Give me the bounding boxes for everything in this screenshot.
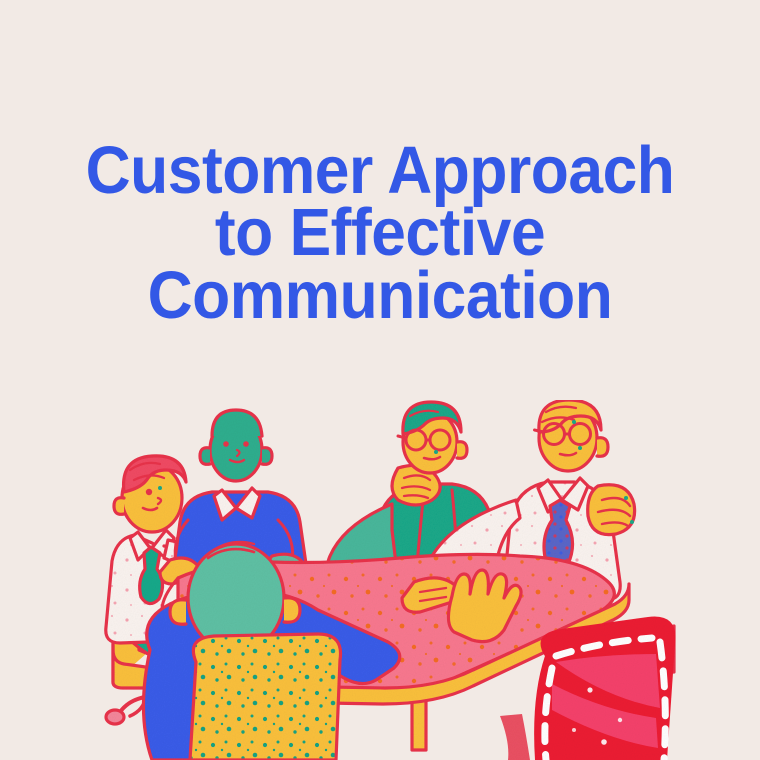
chair-leg-behind [500,714,530,760]
title-line-3: Communication [27,265,734,327]
red-chair [535,618,674,760]
business-meeting-illustration [0,400,760,760]
title-line-1: Customer Approach [27,140,734,202]
page-title: Customer Approach to Effective Communica… [0,140,760,327]
title-line-2: to Effective [27,202,734,264]
poster-canvas: Customer Approach to Effective Communica… [0,0,760,760]
meeting-scene-svg [0,400,760,760]
